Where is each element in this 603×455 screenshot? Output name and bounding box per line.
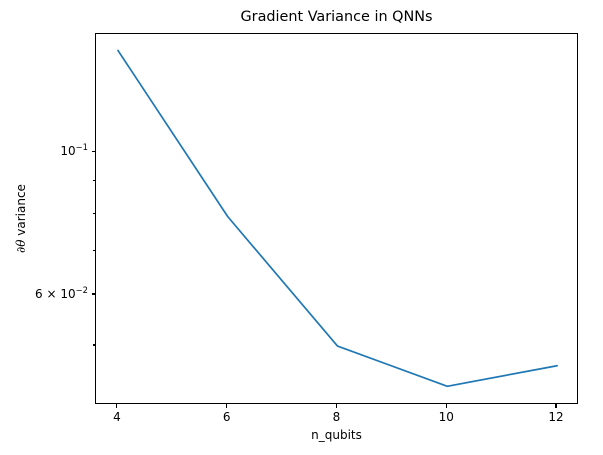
y-tick-mark bbox=[92, 151, 96, 152]
x-tick-mark bbox=[336, 404, 337, 408]
y-minor-tick-mark bbox=[93, 213, 95, 214]
x-tick-label-8: 8 bbox=[333, 410, 341, 424]
y-axis-label-text: variance bbox=[14, 184, 28, 239]
x-tick-label-12: 12 bbox=[548, 410, 563, 424]
x-tick-label-6: 6 bbox=[223, 410, 231, 424]
data-series-line bbox=[118, 50, 557, 386]
x-tick-mark bbox=[116, 404, 117, 408]
x-axis-label: n_qubits bbox=[95, 428, 578, 442]
data-line-svg bbox=[96, 34, 579, 405]
plot-area bbox=[95, 33, 578, 404]
y-axis-label: ∂𝜃 variance bbox=[14, 33, 32, 404]
x-tick-label-4: 4 bbox=[113, 410, 121, 424]
x-tick-mark bbox=[555, 404, 556, 408]
x-tick-mark bbox=[226, 404, 227, 408]
matplotlib-figure: Gradient Variance in QNNs 4681012 10−16 … bbox=[0, 0, 603, 455]
x-tick-mark bbox=[446, 404, 447, 408]
y-minor-tick-mark bbox=[93, 250, 95, 251]
chart-title: Gradient Variance in QNNs bbox=[95, 8, 578, 26]
y-tick-mark bbox=[92, 293, 96, 294]
y-axis-label-symbol: ∂𝜃 bbox=[14, 240, 28, 253]
x-tick-label-10: 10 bbox=[439, 410, 454, 424]
y-minor-tick-mark bbox=[93, 344, 95, 345]
y-minor-tick-mark bbox=[93, 180, 95, 181]
